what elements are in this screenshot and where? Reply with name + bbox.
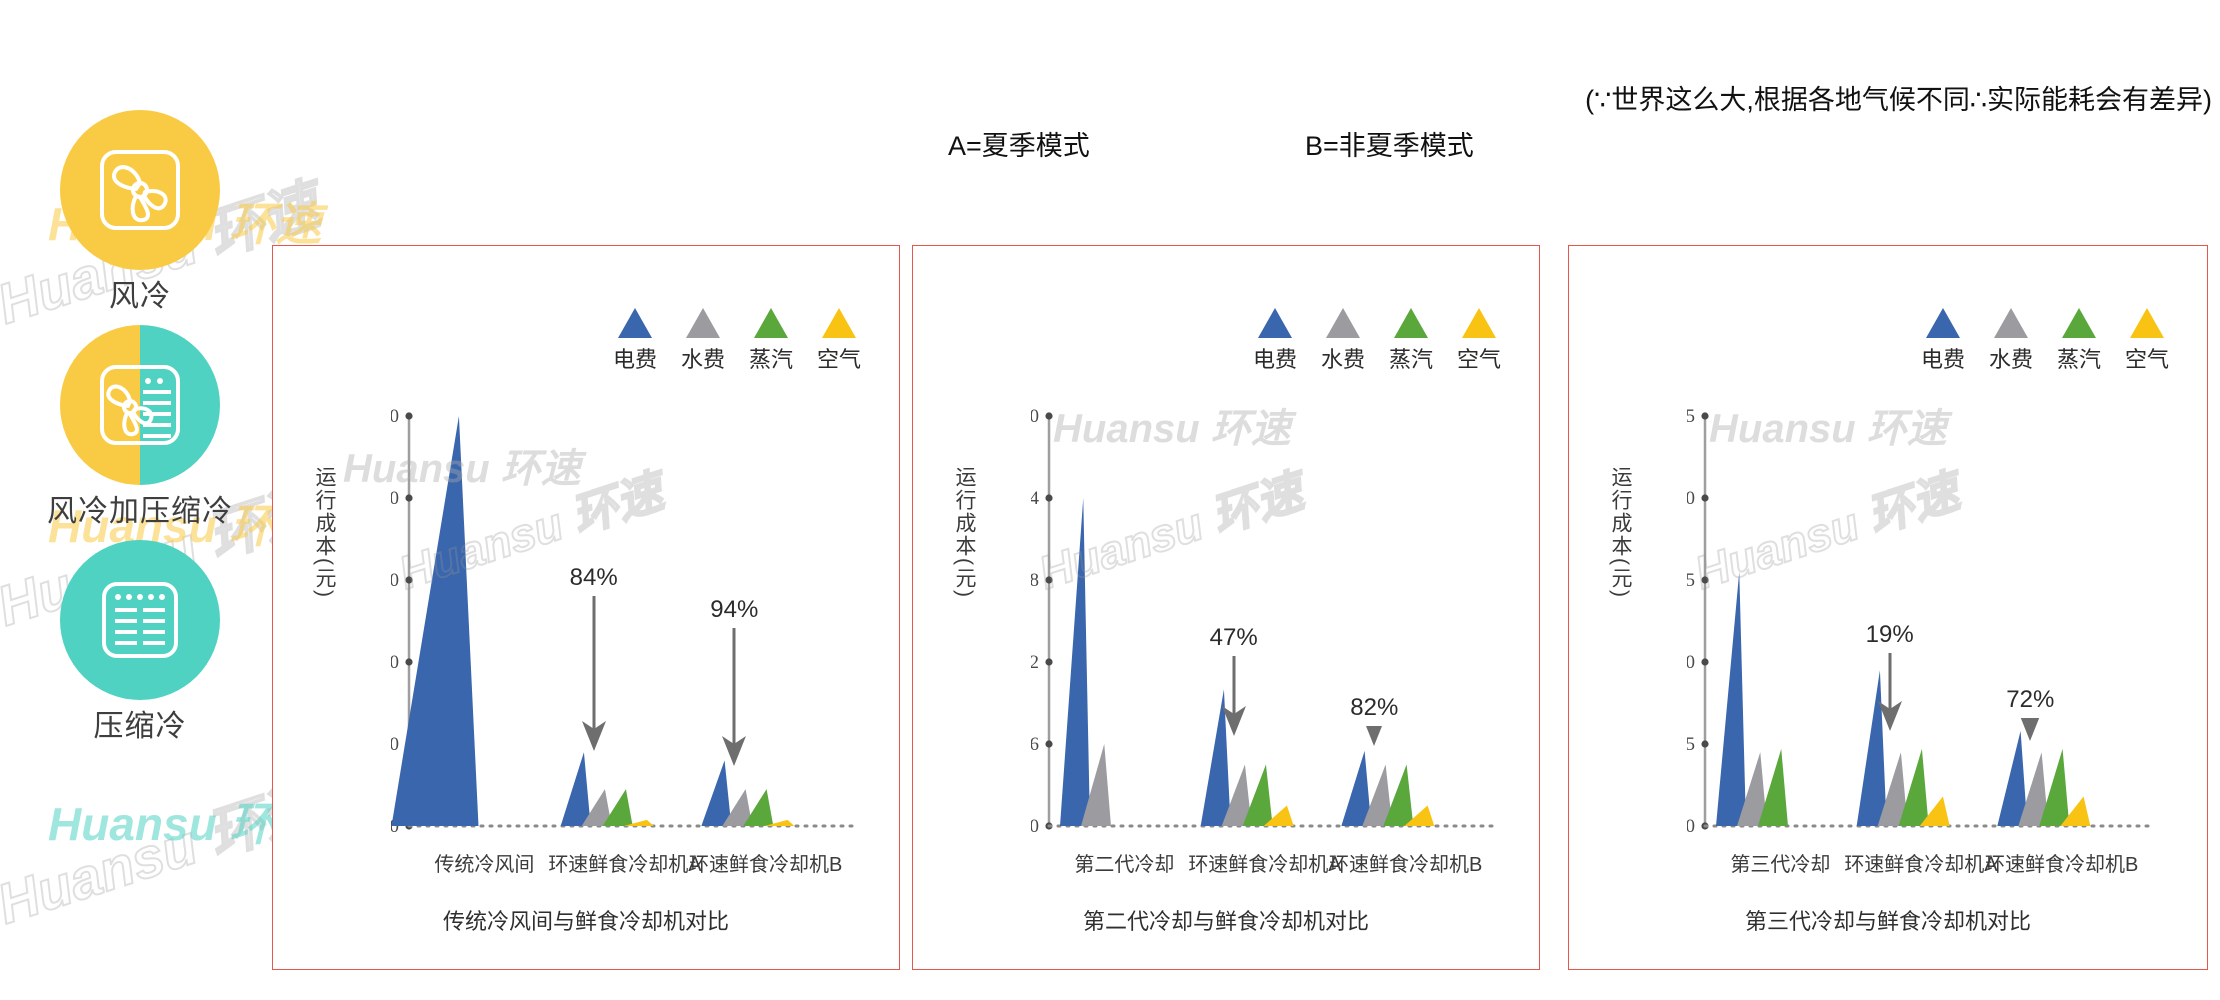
legend-label: 空气 [805,342,873,374]
chart-panel-2[interactable]: 电费水费蒸汽空气运行成本(元)0510152025第三代冷却环速鲜食冷却机A环速… [1568,245,2208,970]
savings-annotation-label: 84% [549,564,639,592]
rail-item-2[interactable]: 压缩冷 [0,540,280,743]
legend-label: 电费 [1909,342,1977,374]
legend-swatch-triangle-icon [1994,308,2028,338]
chart-title: 第三代冷却与鲜食冷却机对比 [1569,904,2207,936]
cone-电费 [1060,498,1090,826]
savings-annotation-label: 72% [1985,686,2075,714]
rail-item-1[interactable]: 风冷加压缩冷 [0,325,280,528]
legend-item-0[interactable]: 电费 [1909,308,1977,374]
svg-text:5: 5 [1687,734,1695,755]
savings-annotation-label: 47% [1189,624,1279,652]
legend-item-1[interactable]: 水费 [669,308,737,374]
svg-text:6: 6 [1031,734,1039,755]
chart-title: 传统冷风间与鲜食冷却机对比 [273,904,899,936]
legend-swatch-triangle-icon [1394,308,1428,338]
legend-swatch-triangle-icon [1926,308,1960,338]
savings-annotation-label: 82% [1329,694,1419,722]
chart-legend: 电费水费蒸汽空气 [601,308,873,374]
chart-panel-1[interactable]: 电费水费蒸汽空气运行成本(元)0612182430第二代冷却环速鲜食冷却机A环速… [912,245,1540,970]
fan-icon [60,110,220,270]
chart-legend: 电费水费蒸汽空气 [1241,308,1513,374]
legend-item-1[interactable]: 水费 [1309,308,1377,374]
legend-item-2[interactable]: 蒸汽 [1377,308,1445,374]
svg-text:30: 30 [1031,406,1039,427]
legend-label: 蒸汽 [737,342,805,374]
svg-text:10: 10 [1687,652,1695,673]
legend-swatch-triangle-icon [754,308,788,338]
mode-a-label: A=夏季模式 [948,124,1090,163]
legend-swatch-triangle-icon [1326,308,1360,338]
cone-电费 [392,416,479,826]
cooling-type-rail: 风冷 风冷加压缩冷 [0,110,280,755]
svg-text:100: 100 [391,406,399,427]
svg-text:15: 15 [1687,570,1695,591]
svg-text:18: 18 [1031,570,1039,591]
savings-arrow-icon [714,628,754,771]
legend-swatch-triangle-icon [1462,308,1496,338]
rail-item-label: 风冷加压缩冷 [0,495,280,528]
savings-annotation-label: 19% [1845,621,1935,649]
legend-swatch-triangle-icon [2130,308,2164,338]
page-root: Huansu 环速 Huansu 环速 Huansu 环速 Huansu 环速 … [0,0,2220,1000]
legend-swatch-triangle-icon [1258,308,1292,338]
legend-label: 空气 [2113,342,2181,374]
savings-arrow-icon [1214,656,1254,741]
coil-icon [60,540,220,700]
legend-swatch-triangle-icon [822,308,856,338]
legend-item-2[interactable]: 蒸汽 [737,308,805,374]
legend-item-2[interactable]: 蒸汽 [2045,308,2113,374]
svg-text:20: 20 [391,734,399,755]
rail-item-0[interactable]: 风冷 [0,110,280,313]
legend-label: 蒸汽 [1377,342,1445,374]
savings-arrow-icon [1354,726,1394,751]
savings-arrow-icon [574,596,614,756]
svg-text:40: 40 [391,652,399,673]
x-axis-tick-label: 环速鲜食冷却机B [1956,848,2167,877]
y-axis-label: 运行成本(元) [309,466,339,599]
plot-area: 020406080100 [391,406,861,846]
chart-legend: 电费水费蒸汽空气 [1909,308,2181,374]
rail-item-label: 风冷 [0,280,280,313]
legend-label: 水费 [1977,342,2045,374]
legend-item-0[interactable]: 电费 [601,308,669,374]
savings-arrow-icon [2010,718,2050,746]
legend-label: 电费 [1241,342,1309,374]
y-axis-label: 运行成本(元) [949,466,979,599]
cone-电费 [1716,572,1746,826]
savings-annotation-label: 94% [689,596,779,624]
cone-电费 [561,752,591,826]
mode-b-label: B=非夏季模式 [1305,124,1474,163]
legend-label: 空气 [1445,342,1513,374]
chart-panel-0[interactable]: 电费水费蒸汽空气运行成本(元)020406080100传统冷风间环速鲜食冷却机A… [272,245,900,970]
legend-swatch-triangle-icon [2062,308,2096,338]
legend-label: 蒸汽 [2045,342,2113,374]
climate-note: (∵世界这么大,根据各地气候不同∴实际能耗会有差异) [1585,78,2212,117]
legend-item-3[interactable]: 空气 [2113,308,2181,374]
svg-text:80: 80 [391,488,399,509]
svg-text:0: 0 [1687,816,1695,837]
x-axis-tick-label: 环速鲜食冷却机B [660,848,871,877]
svg-text:20: 20 [1687,488,1695,509]
legend-item-3[interactable]: 空气 [805,308,873,374]
legend-item-1[interactable]: 水费 [1977,308,2045,374]
svg-text:60: 60 [391,570,399,591]
savings-arrow-icon [1870,653,1910,736]
chart-title: 第二代冷却与鲜食冷却机对比 [913,904,1539,936]
legend-swatch-triangle-icon [618,308,652,338]
legend-label: 电费 [601,342,669,374]
legend-label: 水费 [669,342,737,374]
fan-coil-split-icon [60,325,220,485]
svg-text:24: 24 [1031,488,1040,509]
svg-text:25: 25 [1687,406,1695,427]
legend-label: 水费 [1309,342,1377,374]
legend-swatch-triangle-icon [686,308,720,338]
legend-item-3[interactable]: 空气 [1445,308,1513,374]
legend-item-0[interactable]: 电费 [1241,308,1309,374]
rail-item-label: 压缩冷 [0,710,280,743]
svg-text:0: 0 [1031,816,1039,837]
svg-text:12: 12 [1031,652,1039,673]
y-axis-label: 运行成本(元) [1605,466,1635,599]
x-axis-tick-label: 环速鲜食冷却机B [1300,848,1511,877]
